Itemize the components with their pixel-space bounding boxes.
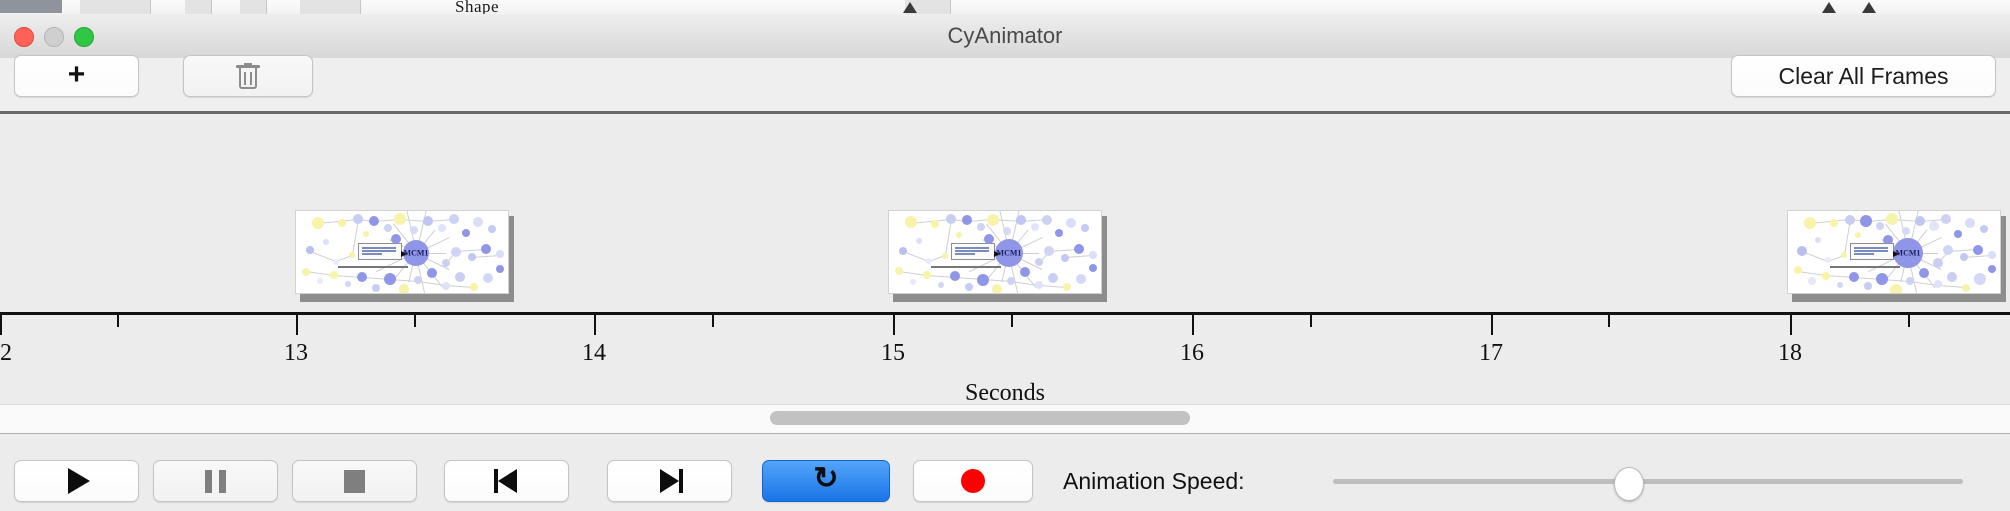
network-node	[910, 279, 916, 285]
network-node	[946, 214, 956, 224]
network-node	[488, 225, 496, 233]
network-node	[1089, 264, 1097, 272]
network-node	[962, 215, 972, 225]
network-node	[349, 252, 355, 258]
frame-network-image: MCM1	[888, 210, 1102, 294]
network-node	[1890, 284, 1902, 294]
axis-tick	[712, 315, 714, 327]
network-node	[1822, 272, 1830, 280]
background-chip	[240, 0, 267, 14]
network-node	[1954, 230, 1962, 238]
network-node	[438, 224, 446, 232]
network-node	[1797, 246, 1807, 256]
network-node	[923, 271, 931, 279]
axis-tick	[0, 315, 2, 335]
callout-text-line	[955, 253, 975, 255]
timeline-frame-thumbnail[interactable]: MCM1	[1787, 210, 2005, 298]
network-node	[1929, 221, 1939, 231]
network-node	[442, 259, 450, 267]
frame-caption	[338, 266, 408, 268]
loop-icon: ↻	[813, 464, 838, 494]
network-node	[317, 278, 323, 284]
background-window-strip: Shape	[0, 0, 2010, 15]
network-node	[942, 253, 948, 259]
timeline-frame-thumbnail[interactable]: MCM1	[295, 210, 513, 298]
axis-title: Seconds	[0, 380, 2010, 407]
network-node	[410, 226, 418, 234]
frame-annotation-callout	[951, 243, 995, 260]
network-node	[1808, 277, 1816, 285]
trash-icon	[236, 63, 260, 90]
network-node	[455, 272, 465, 282]
network-node	[1804, 217, 1816, 229]
network-node	[1042, 215, 1052, 225]
network-node	[1035, 258, 1043, 266]
network-node	[1860, 215, 1872, 227]
network-node	[302, 268, 310, 276]
network-node	[950, 271, 960, 281]
network-node	[1943, 245, 1953, 255]
network-node	[1941, 214, 1951, 224]
background-marker-icon	[1862, 2, 1876, 13]
network-node	[473, 217, 483, 227]
network-node	[442, 282, 450, 290]
network-node	[1849, 272, 1859, 282]
animation-speed-slider-thumb[interactable]	[1614, 467, 1644, 501]
pause-button[interactable]	[153, 460, 278, 502]
network-node	[1003, 227, 1011, 235]
background-marker-icon	[903, 2, 917, 13]
frame-annotation-callout	[1850, 243, 1894, 260]
network-node	[916, 238, 922, 244]
animation-speed-label: Animation Speed:	[1063, 460, 1245, 502]
network-node	[357, 272, 367, 282]
record-button[interactable]	[913, 460, 1033, 502]
axis-tick	[893, 315, 895, 335]
network-node	[1076, 274, 1086, 284]
axis-tick	[1491, 315, 1493, 335]
axis-tick	[1908, 315, 1910, 327]
skip-back-icon	[494, 469, 520, 493]
network-node	[1876, 273, 1888, 285]
network-node	[992, 284, 1002, 294]
network-node	[427, 268, 437, 278]
network-node	[496, 250, 504, 258]
stop-button[interactable]	[292, 460, 417, 502]
network-node	[369, 216, 379, 226]
network-node	[1933, 258, 1943, 268]
network-node	[384, 224, 392, 232]
delete-frame-button[interactable]	[183, 55, 313, 97]
callout-text-line	[955, 250, 989, 252]
network-node	[1962, 284, 1970, 292]
axis-tick	[1790, 315, 1792, 335]
pause-icon	[205, 470, 226, 493]
network-node	[1066, 218, 1076, 228]
network-node	[496, 265, 504, 273]
axis-tick	[117, 315, 119, 327]
network-node	[1960, 253, 1968, 261]
network-node	[1988, 265, 1996, 273]
axis-tick-label: 13	[284, 340, 308, 367]
network-node	[1031, 223, 1039, 231]
network-node	[977, 274, 989, 286]
network-node	[1965, 218, 1975, 228]
stop-icon	[344, 470, 365, 493]
network-node	[414, 276, 422, 284]
network-node	[353, 214, 363, 224]
axis-tick-label: 16	[1180, 340, 1204, 367]
network-node	[372, 284, 380, 292]
network-node	[1974, 273, 1986, 285]
timeline-scrollbar-thumb[interactable]	[770, 411, 1190, 425]
network-node	[1074, 244, 1084, 254]
network-node	[323, 239, 329, 245]
network-node	[399, 284, 409, 294]
background-chip	[300, 0, 361, 14]
network-node	[483, 273, 493, 283]
callout-text-line	[1854, 250, 1888, 252]
network-node	[1063, 283, 1071, 291]
network-node	[931, 220, 939, 228]
axis-tick	[1011, 315, 1013, 327]
clear-all-frames-button[interactable]: Clear All Frames	[1731, 55, 1996, 97]
network-node	[1841, 252, 1847, 258]
network-node	[1947, 272, 1957, 282]
network-node	[481, 244, 491, 254]
network-node	[987, 214, 999, 226]
network-node	[1988, 251, 1996, 259]
network-node	[1845, 215, 1855, 225]
network-node	[899, 247, 907, 255]
play-button[interactable]	[14, 460, 139, 502]
play-icon	[68, 468, 90, 494]
axis-tick-label: 14	[582, 340, 606, 367]
callout-text-line	[1854, 247, 1888, 249]
network-node	[330, 271, 338, 279]
network-node	[345, 281, 351, 287]
network-node	[333, 259, 339, 265]
skip-forward-icon	[657, 469, 683, 493]
network-node	[895, 267, 903, 275]
network-edge	[310, 251, 336, 262]
background-marker-icon	[1822, 2, 1836, 13]
frame-network-image: MCM1	[1787, 210, 2001, 294]
frame-caption	[1830, 266, 1900, 268]
animation-speed-slider-track[interactable]	[1333, 479, 1963, 484]
axis-tick	[296, 315, 298, 335]
axis-tick-label: 15	[881, 340, 905, 367]
axis-tick	[594, 315, 596, 335]
plus-icon: +	[68, 60, 86, 90]
network-node	[451, 247, 461, 257]
axis-tick-label: 17	[1479, 340, 1503, 367]
network-node	[1061, 254, 1069, 262]
network-node	[423, 216, 433, 226]
axis-tick	[1192, 315, 1194, 335]
network-node	[462, 229, 470, 237]
axis-tick	[1608, 315, 1610, 327]
network-node	[1048, 273, 1058, 283]
network-node	[1081, 224, 1089, 232]
callout-text-line	[362, 247, 396, 249]
title-bar: CyAnimator	[0, 14, 2010, 59]
background-chip	[185, 0, 212, 14]
network-node	[1934, 280, 1942, 288]
network-node	[470, 283, 478, 291]
network-node	[468, 253, 476, 261]
network-node	[1980, 225, 1988, 233]
network-node	[1864, 282, 1872, 290]
network-node	[1876, 222, 1884, 230]
network-node	[1973, 245, 1983, 255]
add-frame-button[interactable]: +	[14, 55, 139, 97]
timeline-axis	[0, 312, 2010, 315]
network-node	[1902, 227, 1910, 235]
network-node	[1906, 277, 1914, 285]
record-icon	[961, 469, 985, 493]
network-node	[965, 283, 973, 291]
callout-text-line	[362, 250, 396, 252]
network-node	[312, 217, 324, 229]
frame-annotation-callout	[358, 243, 402, 260]
network-node	[1089, 251, 1097, 259]
network-node	[1016, 215, 1026, 225]
network-node	[1035, 281, 1043, 289]
network-node	[977, 223, 985, 231]
network-node	[926, 258, 932, 264]
axis-tick	[414, 315, 416, 327]
network-node	[1815, 237, 1821, 243]
network-node	[905, 216, 917, 228]
background-window-label: Shape	[455, 0, 499, 15]
loop-button[interactable]: ↻	[762, 460, 890, 502]
network-node	[1830, 219, 1838, 227]
axis-tick-label: 12	[0, 340, 12, 367]
axis-tick	[1310, 315, 1312, 327]
network-node	[1794, 266, 1802, 274]
network-node	[363, 231, 369, 237]
network-node	[1837, 282, 1843, 288]
timeline-frame-thumbnail[interactable]: MCM1	[888, 210, 1106, 298]
callout-arrow-icon	[994, 251, 1000, 257]
network-node	[1020, 267, 1030, 277]
network-node	[338, 219, 346, 227]
network-node	[1825, 257, 1831, 263]
network-node	[1915, 216, 1925, 226]
callout-text-line	[1854, 253, 1874, 255]
network-node	[449, 214, 459, 224]
frame-caption	[931, 266, 1001, 268]
network-node	[1044, 246, 1054, 256]
network-node	[1855, 232, 1861, 238]
background-window-titlebar	[0, 0, 62, 13]
callout-arrow-icon	[401, 251, 407, 257]
network-node	[1886, 213, 1898, 225]
network-node	[394, 213, 406, 225]
network-node	[956, 232, 962, 238]
next-frame-button[interactable]	[607, 460, 732, 502]
callout-text-line	[362, 253, 382, 255]
previous-frame-button[interactable]	[444, 460, 569, 502]
axis-tick-label: 18	[1778, 340, 1802, 367]
frame-network-image: MCM1	[295, 210, 509, 294]
network-node	[938, 282, 944, 288]
network-node	[384, 273, 396, 285]
window-title: CyAnimator	[0, 14, 2010, 58]
callout-text-line	[955, 247, 989, 249]
callout-arrow-icon	[1893, 251, 1899, 257]
network-node	[1007, 277, 1015, 285]
background-chip	[80, 0, 151, 14]
network-node	[1055, 229, 1063, 237]
cyanimator-window: Shape CyAnimator + Clear All Frames MCM1…	[0, 0, 2010, 510]
